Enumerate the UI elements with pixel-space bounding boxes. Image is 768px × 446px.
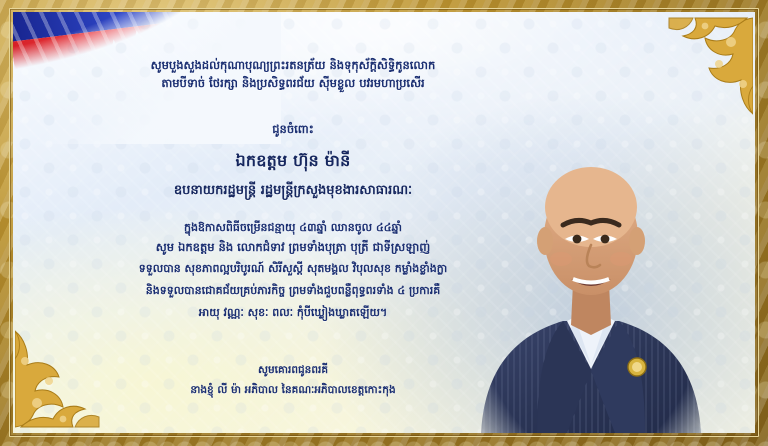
card-text: សូមបួងសួងដល់កុណាបុណ្យព្រះរតនត្រ័យ និងទុក… xyxy=(13,12,755,433)
greeting-card: សូមបួងសួងដល់កុណាបុណ្យព្រះរតនត្រ័យ និងទុក… xyxy=(0,0,768,446)
card-canvas: សូមបួងសួងដល់កុណាបុណ្យព្រះរតនត្រ័យ និងទុក… xyxy=(13,12,755,433)
dedication-label: ជូនចំពោះ xyxy=(13,122,573,137)
honoree-title: ឧបនាយករដ្ឋមន្ត្រី រដ្ឋមន្ត្រីក្រសួងមុខងា… xyxy=(13,182,573,199)
signature-closing: សូមគោរពជូនពរគី xyxy=(13,364,573,378)
blessing-line-2: តាមបីទាច់ ថែរក្សា និងប្រសិទ្ធពរជ័យ ស៊ីមខ… xyxy=(13,76,573,91)
body-line-2: សូម ឯកឧត្តម និង លោកជំទាវ ព្រមទាំងបុត្រា … xyxy=(13,240,573,255)
signature-signer: នាងខ្ញុំ លី ម៉ា អភិបាល នៃគណៈអភិបាលខេត្តក… xyxy=(13,384,573,398)
honoree-name: ឯកឧត្តម ហ៊ុន ម៉ានី xyxy=(13,150,573,171)
body-line-4: និងទទួលបានជោគជ័យគ្រប់ភារកិច្ច ព្រមទាំងជួ… xyxy=(13,284,573,299)
blessing-line-1: សូមបួងសួងដល់កុណាបុណ្យព្រះរតនត្រ័យ និងទុក… xyxy=(13,58,573,73)
body-line-1: ក្នុងឱកាសពិធីចម្រើនជន្មាយុ ៤៣ឆ្នាំ ឈានចូ… xyxy=(13,221,573,236)
body-line-5: អាយុ វណ្ណៈ សុខៈ ពលៈ កុំបីឃ្លៀងឃ្លាតឡើយ។ xyxy=(13,306,573,321)
body-line-3: ទទួលបាន សុខភាពល្អបរិបូរណ៍ សិរីសួស្តី សុត… xyxy=(13,262,573,277)
